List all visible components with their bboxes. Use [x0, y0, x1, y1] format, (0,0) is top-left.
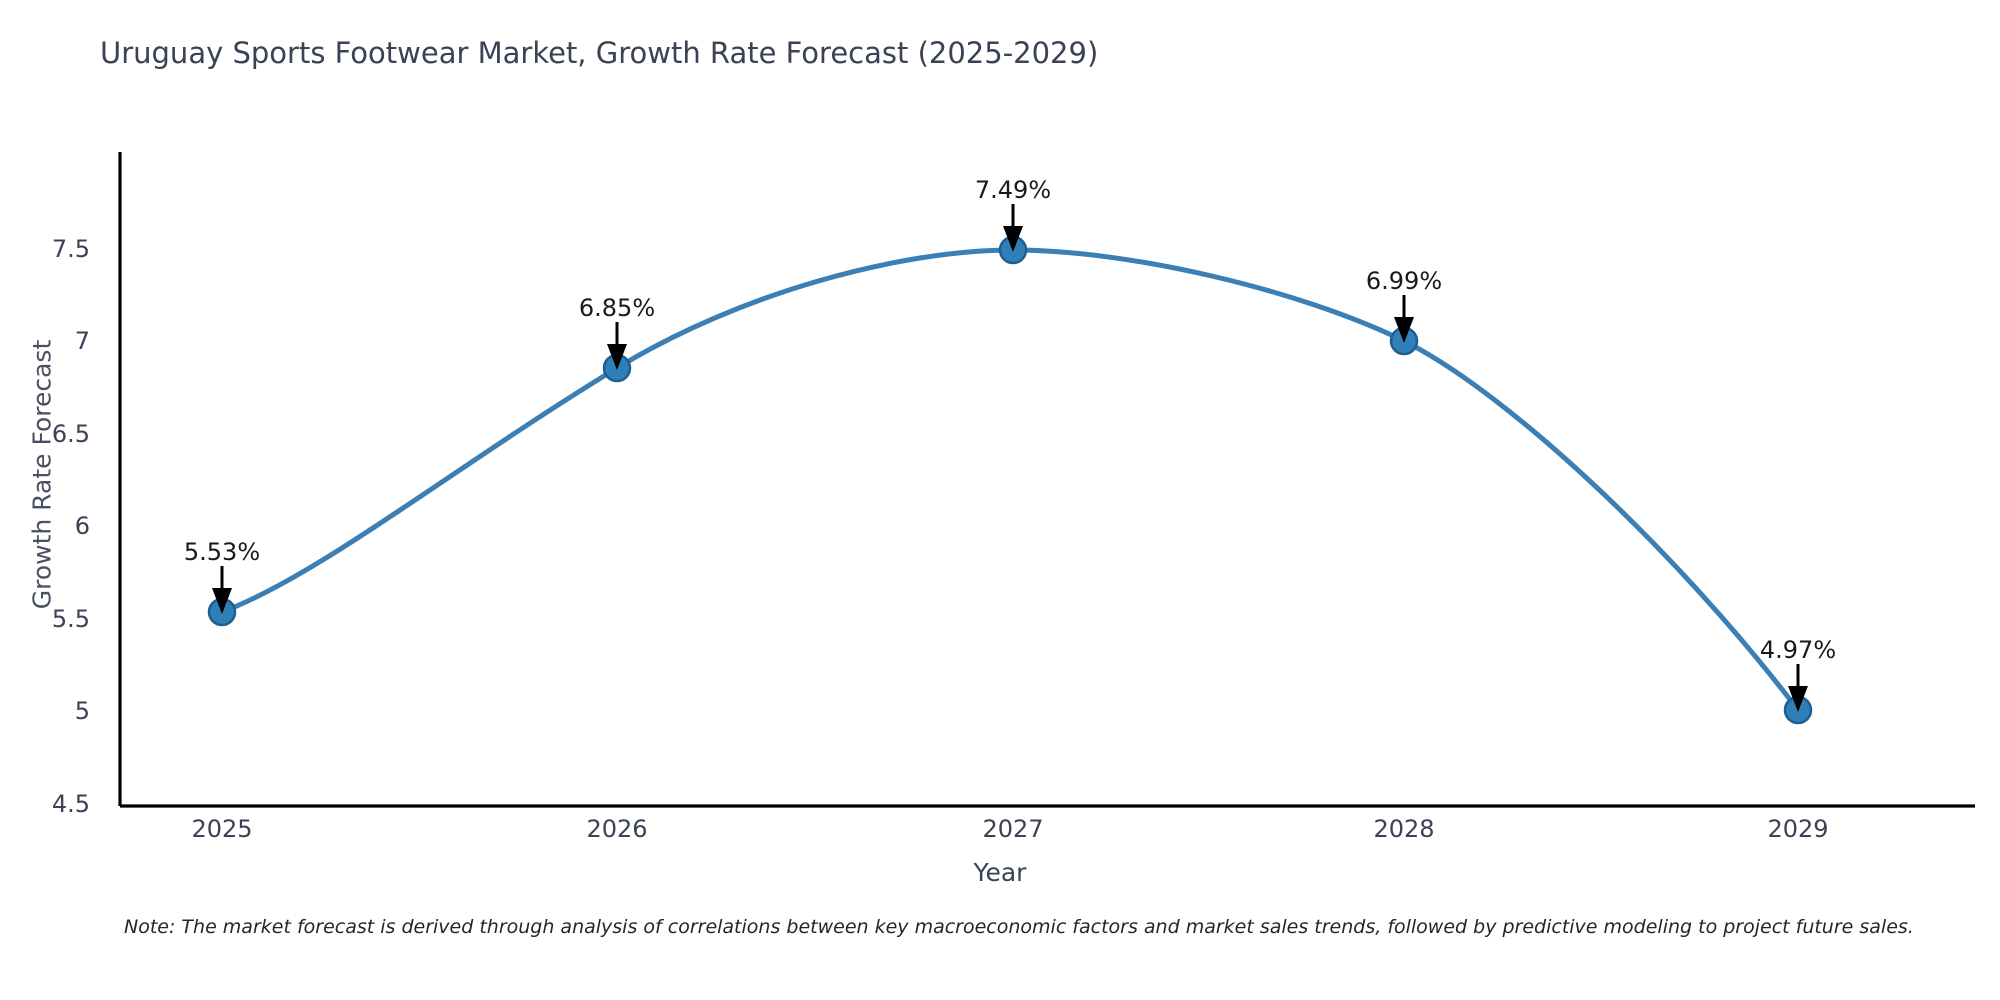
- data-line-series: [222, 250, 1798, 710]
- data-point-label: 5.53%: [122, 538, 322, 566]
- data-point-label: 7.49%: [913, 176, 1113, 204]
- chart-footnote: Note: The market forecast is derived thr…: [124, 916, 1914, 938]
- plot-area: [0, 0, 2000, 1000]
- data-point-label: 6.99%: [1304, 267, 1504, 295]
- x-axis-title: Year: [0, 858, 2000, 887]
- data-point-label: 4.97%: [1698, 636, 1898, 664]
- chart-figure: Uruguay Sports Footwear Market, Growth R…: [0, 0, 2000, 1000]
- data-point-label: 6.85%: [517, 294, 717, 322]
